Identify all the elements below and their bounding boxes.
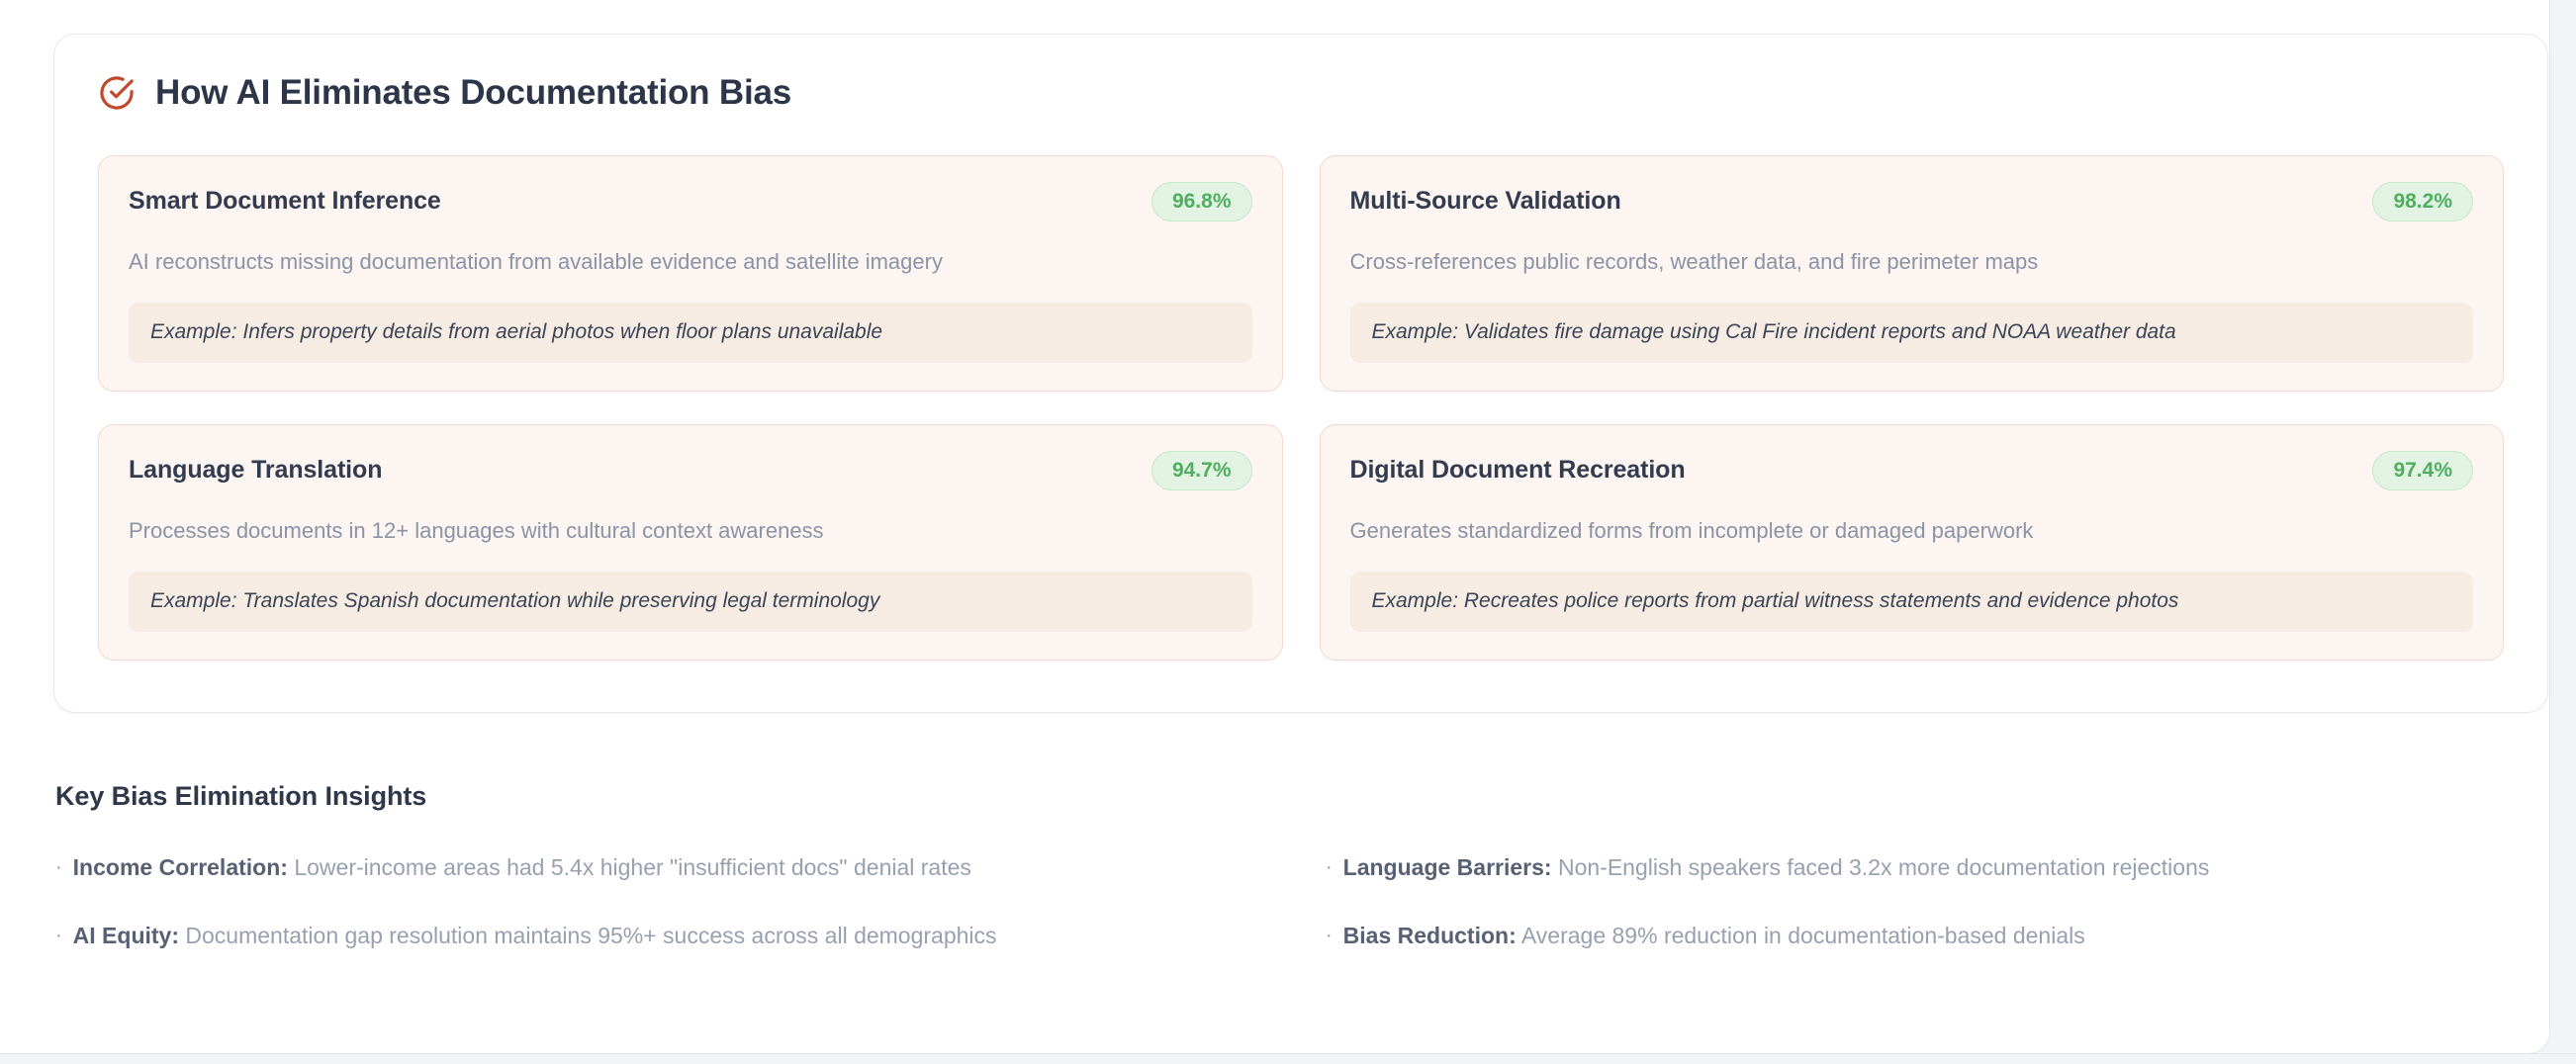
- feature-card[interactable]: Language Translation 94.7% Processes doc…: [98, 424, 1283, 661]
- accuracy-badge: 94.7%: [1151, 451, 1252, 490]
- bullet-icon: ·: [55, 926, 62, 945]
- panel-header: How AI Eliminates Documentation Bias: [98, 72, 2504, 112]
- bullet-icon: ·: [1326, 926, 1333, 945]
- card-header: Language Translation 94.7%: [129, 451, 1252, 490]
- card-title: Multi-Source Validation: [1350, 188, 1621, 216]
- key-insights-section: Key Bias Elimination Insights · Income C…: [53, 781, 2548, 950]
- card-description: Generates standardized forms from incomp…: [1350, 516, 2474, 546]
- page-title: How AI Eliminates Documentation Bias: [155, 75, 791, 110]
- insights-title: Key Bias Elimination Insights: [55, 781, 2546, 812]
- list-item: · AI Equity: Documentation gap resolutio…: [55, 922, 1276, 950]
- page-background-strip: [0, 1054, 2576, 1064]
- insight-label: Income Correlation:: [73, 854, 288, 880]
- card-description: AI reconstructs missing documentation fr…: [129, 247, 1252, 277]
- feature-card-grid: Smart Document Inference 96.8% AI recons…: [98, 155, 2504, 661]
- list-item: · Income Correlation: Lower-income areas…: [55, 853, 1276, 882]
- insight-text: Documentation gap resolution maintains 9…: [185, 923, 996, 948]
- circle-check-icon: [98, 74, 136, 112]
- list-item: · Language Barriers: Non-English speaker…: [1326, 853, 2546, 882]
- card-header: Smart Document Inference 96.8%: [129, 182, 1252, 222]
- list-item: · Bias Reduction: Average 89% reduction …: [1326, 922, 2546, 950]
- card-example: Example: Translates Spanish documentatio…: [129, 572, 1252, 632]
- accuracy-badge: 96.8%: [1151, 182, 1252, 222]
- insight-text: Non-English speakers faced 3.2x more doc…: [1558, 854, 2209, 880]
- insight-label: AI Equity:: [73, 923, 179, 948]
- card-header: Multi-Source Validation 98.2%: [1350, 182, 2474, 222]
- feature-card[interactable]: Multi-Source Validation 98.2% Cross-refe…: [1320, 155, 2505, 392]
- card-description: Processes documents in 12+ languages wit…: [129, 516, 1252, 546]
- insights-grid: · Income Correlation: Lower-income areas…: [55, 853, 2546, 950]
- card-header: Digital Document Recreation 97.4%: [1350, 451, 2474, 490]
- card-example: Example: Validates fire damage using Cal…: [1350, 303, 2474, 363]
- bullet-icon: ·: [1326, 857, 1333, 877]
- feature-card[interactable]: Digital Document Recreation 97.4% Genera…: [1320, 424, 2505, 661]
- accuracy-badge: 98.2%: [2372, 182, 2473, 222]
- insight-label: Language Barriers:: [1343, 854, 1552, 880]
- bullet-icon: ·: [55, 857, 62, 877]
- card-title: Language Translation: [129, 457, 382, 485]
- card-title: Digital Document Recreation: [1350, 457, 1686, 485]
- insight-label: Bias Reduction:: [1343, 923, 1517, 948]
- card-example: Example: Infers property details from ae…: [129, 303, 1252, 363]
- card-description: Cross-references public records, weather…: [1350, 247, 2474, 277]
- insight-text: Lower-income areas had 5.4x higher "insu…: [294, 854, 971, 880]
- accuracy-badge: 97.4%: [2372, 451, 2473, 490]
- feature-card[interactable]: Smart Document Inference 96.8% AI recons…: [98, 155, 1283, 392]
- insight-text: Average 89% reduction in documentation-b…: [1521, 923, 2085, 948]
- documentation-bias-panel: How AI Eliminates Documentation Bias Sma…: [53, 34, 2548, 713]
- card-title: Smart Document Inference: [129, 188, 441, 216]
- card-example: Example: Recreates police reports from p…: [1350, 572, 2474, 632]
